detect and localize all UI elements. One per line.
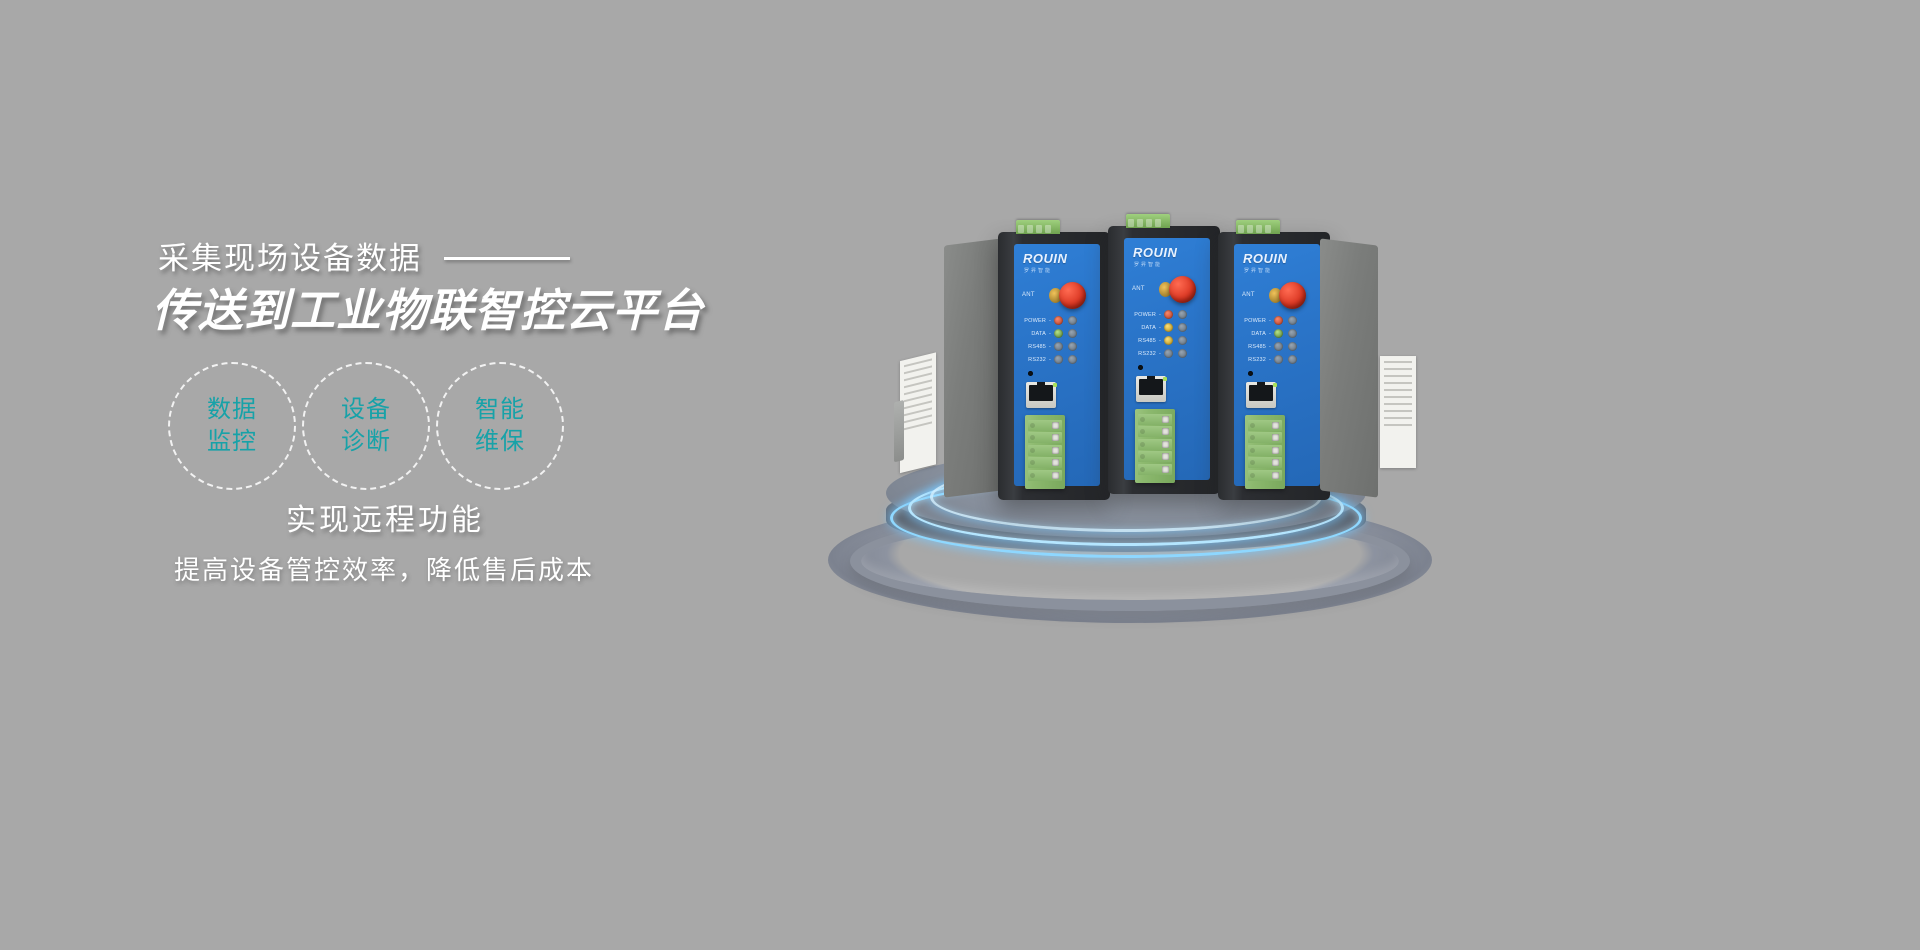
device-chassis-side (944, 238, 1002, 497)
feature-circle-smart-maintenance[interactable]: 智能 维保 (436, 362, 564, 490)
led-row-rs232: RS232 - (1240, 353, 1314, 366)
led-label: POWER (1240, 318, 1266, 324)
brand-logo-cn: 罗昇智能 (1244, 267, 1314, 274)
reset-button-icon[interactable] (1028, 371, 1033, 376)
led-dash: - (1049, 331, 1051, 337)
terminal-pin (1138, 426, 1172, 437)
device-spec-label (900, 352, 936, 473)
hero-banner: 采集现场设备数据 传送到工业物联智控云平台 数据 监控 设备 诊断 智能 维保 … (0, 0, 1920, 950)
terminal-pin (1028, 432, 1062, 443)
terminal-pin (1248, 420, 1282, 431)
gateway-device-1[interactable]: ROUIN 罗昇智能 ANT POWER - DATA (998, 232, 1110, 500)
led-label: DATA (1130, 325, 1156, 331)
feature-label-line2: 监控 (207, 426, 257, 458)
feature-label-line1: 数据 (207, 394, 257, 426)
feature-circle-device-diagnosis[interactable]: 设备 诊断 (302, 362, 430, 490)
terminal-block-icon (1025, 415, 1065, 489)
led-row-data: DATA - (1240, 327, 1314, 340)
terminal-pin (1138, 451, 1172, 462)
led-indicator (1178, 323, 1187, 332)
led-row-power: POWER - (1020, 314, 1094, 327)
led-indicator (1288, 355, 1297, 364)
product-scene: ROUIN 罗昇智能 ANT POWER - DATA (790, 180, 1490, 650)
ethernet-port-icon (1136, 376, 1166, 402)
antenna-connector-icon (1169, 276, 1196, 303)
led-row-rs485: RS485 - (1130, 334, 1204, 347)
ethernet-port-icon (1246, 382, 1276, 408)
led-label: RS232 (1240, 357, 1266, 363)
terminal-pin (1138, 439, 1172, 450)
terminal-pin (1248, 445, 1282, 456)
sub-description: 提高设备管控效率，降低售后成本 (174, 550, 594, 587)
brand-logo-cn: 罗昇智能 (1024, 267, 1094, 274)
device-din-clip (894, 400, 904, 462)
led-label: POWER (1130, 312, 1156, 318)
brand-logo: ROUIN (1133, 246, 1204, 259)
antenna-label: ANT (1242, 292, 1255, 298)
power-terminal-connector (1126, 214, 1170, 228)
feature-label-line1: 智能 (475, 394, 525, 426)
led-label: DATA (1240, 331, 1266, 337)
led-dash: - (1269, 331, 1271, 337)
led-row-rs232: RS232 - (1020, 353, 1094, 366)
led-indicator (1068, 316, 1077, 325)
device-faceplate: ROUIN 罗昇智能 ANT POWER - DATA (1014, 244, 1100, 486)
device-body: ROUIN 罗昇智能 ANT POWER - DATA (998, 232, 1110, 500)
led-indicator (1178, 336, 1187, 345)
device-faceplate: ROUIN 罗昇智能 ANT POWER - DATA (1124, 238, 1210, 480)
led-indicator (1178, 310, 1187, 319)
terminal-pin (1028, 445, 1062, 456)
led-indicator (1288, 342, 1297, 351)
gateway-device-2[interactable]: ROUIN 罗昇智能 ANT POWER - DATA (1108, 226, 1220, 494)
terminal-pin (1248, 432, 1282, 443)
ethernet-port-icon (1026, 382, 1056, 408)
led-dash: - (1049, 318, 1051, 324)
ethernet-link-led (1053, 383, 1057, 387)
led-indicator (1164, 336, 1173, 345)
led-row-data: DATA - (1130, 321, 1204, 334)
feature-circle-list: 数据 监控 设备 诊断 智能 维保 (168, 362, 564, 490)
antenna-connector-icon (1059, 282, 1086, 309)
led-row-power: POWER - (1130, 308, 1204, 321)
terminal-pin (1248, 470, 1282, 481)
led-dash: - (1269, 357, 1271, 363)
brand-logo: ROUIN (1243, 252, 1314, 265)
device-spec-label (1380, 356, 1416, 468)
led-dash: - (1269, 318, 1271, 324)
led-indicator (1178, 349, 1187, 358)
led-indicator (1054, 329, 1063, 338)
antenna-label: ANT (1022, 292, 1035, 298)
ethernet-link-led (1273, 383, 1277, 387)
led-label: RS485 (1130, 338, 1156, 344)
led-indicator (1288, 329, 1297, 338)
led-label: RS485 (1020, 344, 1046, 350)
led-indicator (1054, 355, 1063, 364)
led-label: RS232 (1130, 351, 1156, 357)
gateway-device-3[interactable]: ROUIN 罗昇智能 ANT POWER - DATA (1218, 232, 1330, 500)
led-dash: - (1049, 344, 1051, 350)
brand-logo: ROUIN (1023, 252, 1094, 265)
led-indicator (1288, 316, 1297, 325)
led-indicator (1274, 355, 1283, 364)
led-dash: - (1159, 338, 1161, 344)
led-label: DATA (1020, 331, 1046, 337)
power-terminal-connector (1016, 220, 1060, 234)
terminal-pin (1028, 470, 1062, 481)
terminal-block-icon (1245, 415, 1285, 489)
led-indicator (1274, 316, 1283, 325)
led-indicator (1164, 323, 1173, 332)
led-dash: - (1269, 344, 1271, 350)
led-row-rs485: RS485 - (1240, 340, 1314, 353)
led-indicator (1068, 342, 1077, 351)
led-indicator (1054, 342, 1063, 351)
led-indicator (1274, 342, 1283, 351)
led-indicator (1164, 310, 1173, 319)
led-label: RS232 (1020, 357, 1046, 363)
terminal-block-icon (1135, 409, 1175, 483)
led-dash: - (1049, 357, 1051, 363)
feature-label-line2: 维保 (475, 426, 525, 458)
led-row-rs485: RS485 - (1020, 340, 1094, 353)
terminal-pin (1138, 464, 1172, 475)
led-label: POWER (1020, 318, 1046, 324)
feature-circle-data-monitoring[interactable]: 数据 监控 (168, 362, 296, 490)
led-indicator (1274, 329, 1283, 338)
reset-button-icon[interactable] (1248, 371, 1253, 376)
antenna-row: ANT (1020, 280, 1094, 314)
terminal-pin (1248, 457, 1282, 468)
led-dash: - (1159, 351, 1161, 357)
antenna-row: ANT (1130, 274, 1204, 308)
device-body: ROUIN 罗昇智能 ANT POWER - DATA (1218, 232, 1330, 500)
led-row-rs232: RS232 - (1130, 347, 1204, 360)
copy-column: 采集现场设备数据 传送到工业物联智控云平台 数据 监控 设备 诊断 智能 维保 … (0, 0, 760, 950)
device-faceplate: ROUIN 罗昇智能 ANT POWER - DATA (1234, 244, 1320, 486)
feature-label-line1: 设备 (341, 394, 391, 426)
led-row-data: DATA - (1020, 327, 1094, 340)
brand-logo-cn: 罗昇智能 (1134, 261, 1204, 268)
antenna-connector-icon (1279, 282, 1306, 309)
kicker-row: 采集现场设备数据 (158, 243, 570, 274)
terminal-pin (1028, 420, 1062, 431)
led-indicator (1068, 329, 1077, 338)
terminal-pin (1138, 414, 1172, 425)
device-body: ROUIN 罗昇智能 ANT POWER - DATA (1108, 226, 1220, 494)
led-dash: - (1159, 325, 1161, 331)
power-terminal-connector (1236, 220, 1280, 234)
kicker-rule (444, 257, 570, 260)
antenna-row: ANT (1240, 280, 1314, 314)
sub-title: 实现远程功能 (286, 495, 484, 539)
reset-button-icon[interactable] (1138, 365, 1143, 370)
led-row-power: POWER - (1240, 314, 1314, 327)
ethernet-link-led (1163, 377, 1167, 381)
feature-label-line2: 诊断 (341, 426, 391, 458)
led-indicator (1164, 349, 1173, 358)
kicker-text: 采集现场设备数据 (158, 243, 422, 274)
led-indicator (1068, 355, 1077, 364)
antenna-label: ANT (1132, 286, 1145, 292)
led-indicator (1054, 316, 1063, 325)
page-title: 传送到工业物联智控云平台 (152, 284, 704, 337)
device-chassis-side (1320, 238, 1378, 497)
led-dash: - (1159, 312, 1161, 318)
terminal-pin (1028, 457, 1062, 468)
led-label: RS485 (1240, 344, 1266, 350)
